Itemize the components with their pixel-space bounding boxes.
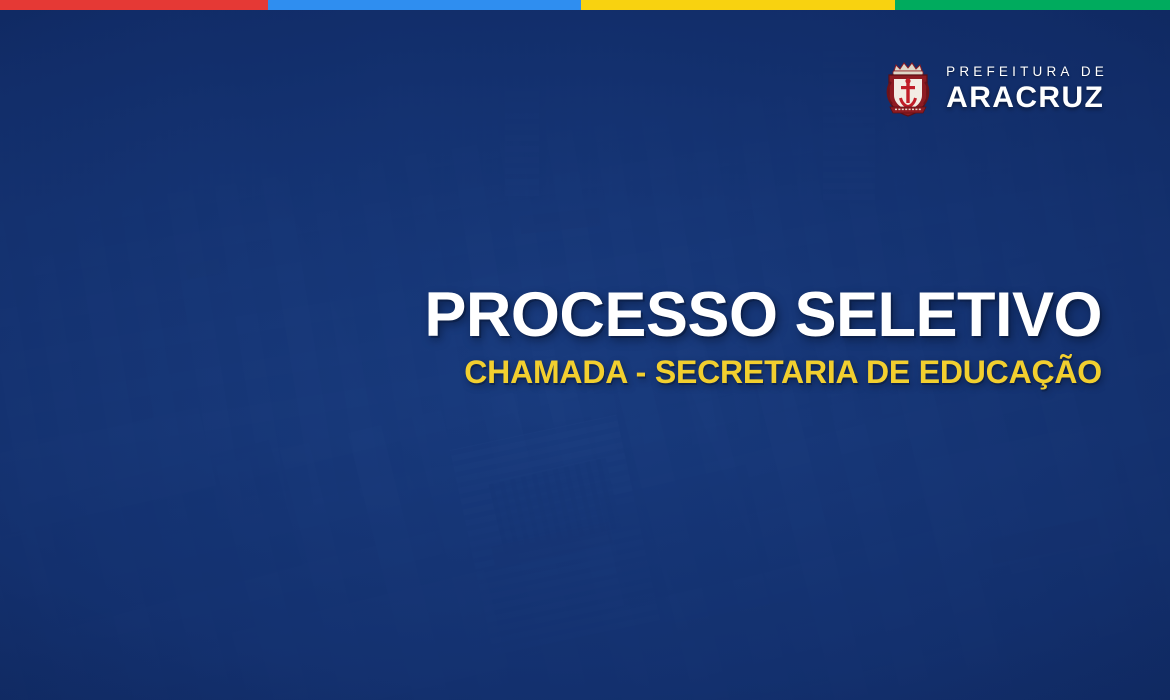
coat-of-arms-icon (882, 58, 934, 120)
brand-aracruz-label: ARACRUZ (946, 83, 1104, 113)
brand-text-block: PREFEITURA DE ARACRUZ (946, 65, 1108, 113)
selection-process-banner: PREFEITURA DE ARACRUZ PROCESSO SELETIVO … (0, 0, 1170, 700)
stripe-segment-green (895, 0, 1170, 10)
stripe-segment-red (0, 0, 268, 10)
headline-block: PROCESSO SELETIVO CHAMADA - SECRETARIA D… (342, 283, 1102, 390)
stripe-segment-blue (268, 0, 581, 10)
banner-subtitle: CHAMADA - SECRETARIA DE EDUCAÇÃO (342, 356, 1102, 390)
brand-prefeitura-label: PREFEITURA DE (946, 65, 1108, 79)
stripe-segment-yellow (581, 0, 895, 10)
top-color-stripe (0, 0, 1170, 10)
brand-lockup: PREFEITURA DE ARACRUZ (882, 58, 1108, 120)
banner-title: PROCESSO SELETIVO (342, 283, 1102, 347)
